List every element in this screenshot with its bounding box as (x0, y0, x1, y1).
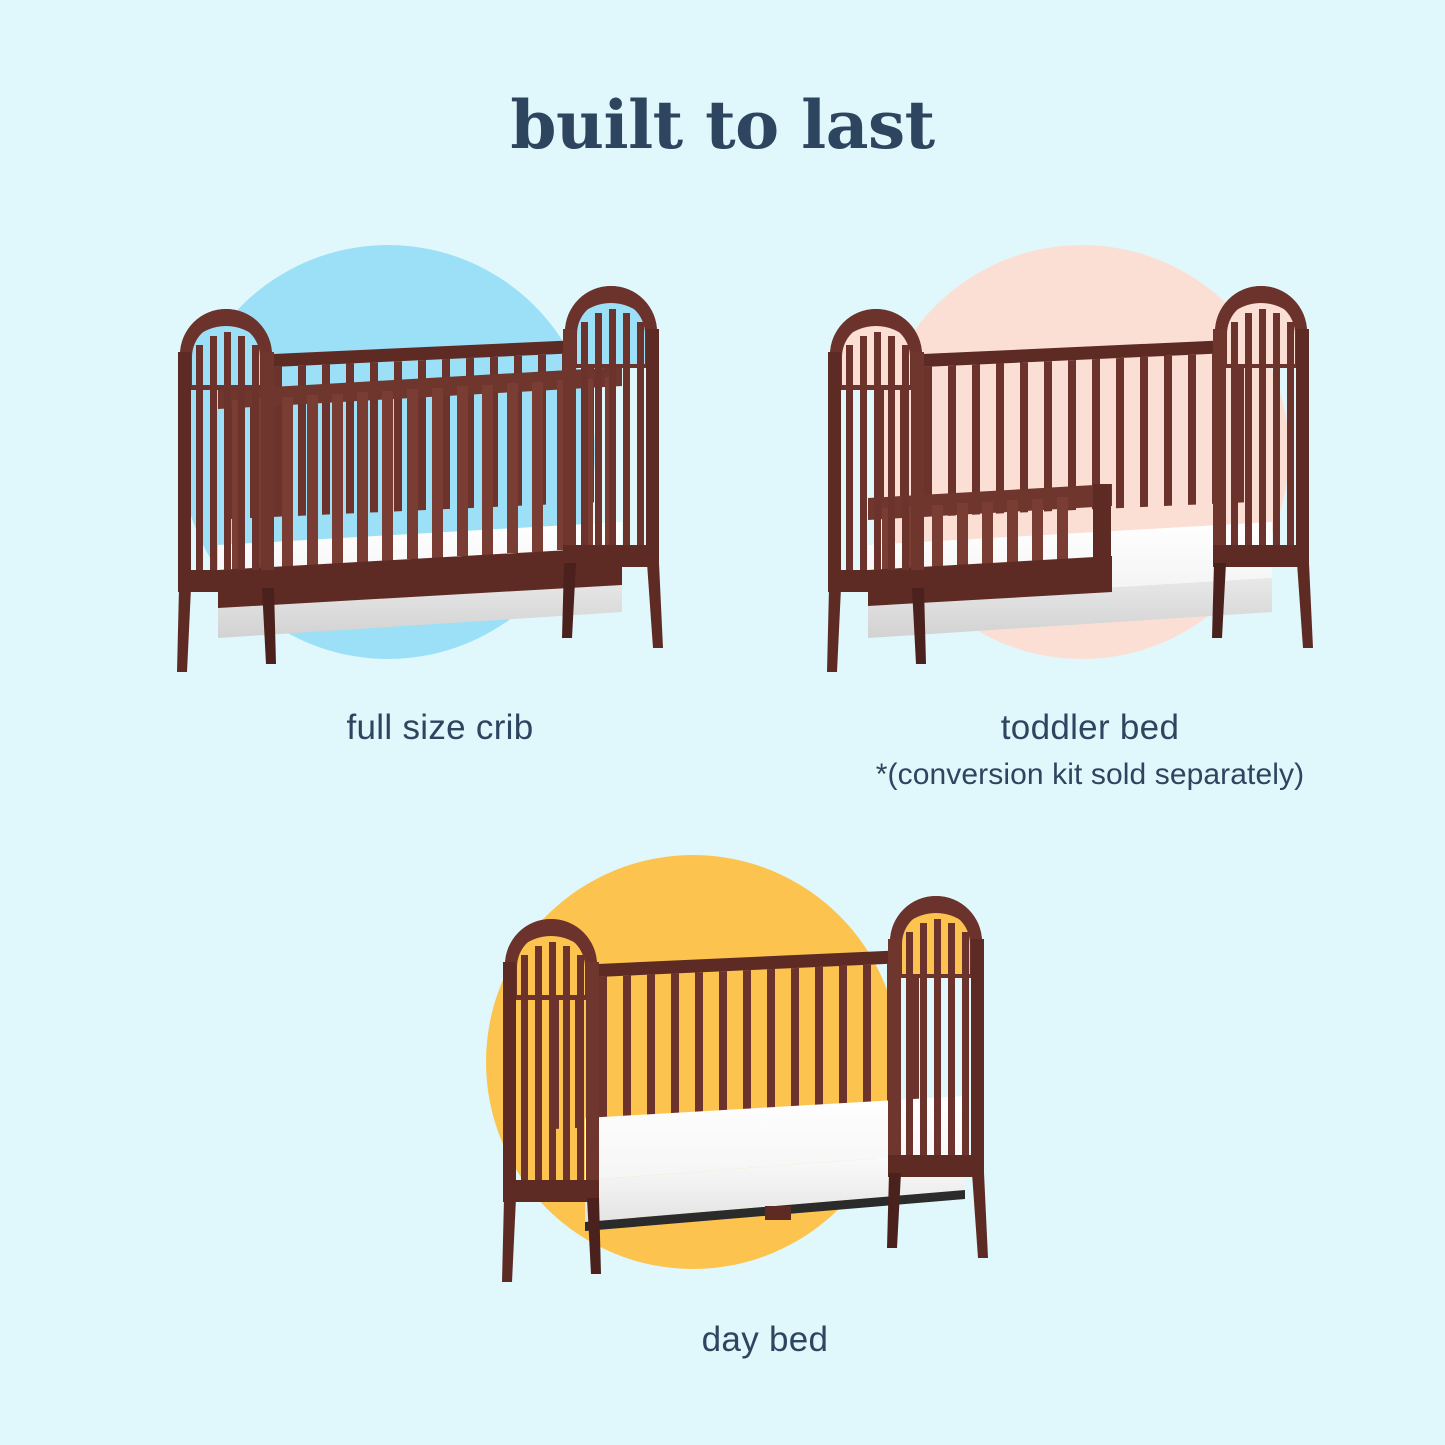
leg-front-left (502, 1198, 516, 1282)
caption-label: full size crib (346, 708, 533, 747)
product-panel-toddler-bed (790, 240, 1390, 680)
leg-front-right (1297, 563, 1313, 648)
leg-front-left (827, 588, 841, 672)
infographic-stage: built to last (0, 0, 1445, 1445)
leg-front-right (972, 1173, 988, 1258)
leg-back-right (1212, 563, 1226, 638)
product-panel-full-size-crib (140, 240, 740, 680)
toddler-bed-illustration (790, 240, 1390, 680)
page-title: built to last (0, 92, 1445, 158)
day-bed-illustration (465, 850, 1065, 1290)
leg-front-left (177, 588, 191, 672)
caption-day-bed: day bed (465, 1318, 1065, 1362)
leg-back-left (912, 588, 926, 664)
leg-back-right (562, 563, 576, 638)
caption-label: day bed (702, 1320, 829, 1359)
guard-rail-end-post (1093, 484, 1111, 592)
full-size-crib-illustration (140, 240, 740, 680)
leg-back-right (887, 1173, 901, 1248)
caption-toddler-bed: toddler bed *(conversion kit sold separa… (790, 706, 1390, 793)
leg-back-left (587, 1198, 601, 1274)
caption-sublabel: *(conversion kit sold separately) (790, 756, 1390, 794)
mattress-support-bar (765, 1206, 791, 1220)
caption-label: toddler bed (1001, 708, 1179, 747)
leg-front-right (647, 563, 663, 648)
product-panel-day-bed (465, 850, 1065, 1290)
leg-back-left (262, 588, 276, 664)
caption-full-size-crib: full size crib (140, 706, 740, 750)
